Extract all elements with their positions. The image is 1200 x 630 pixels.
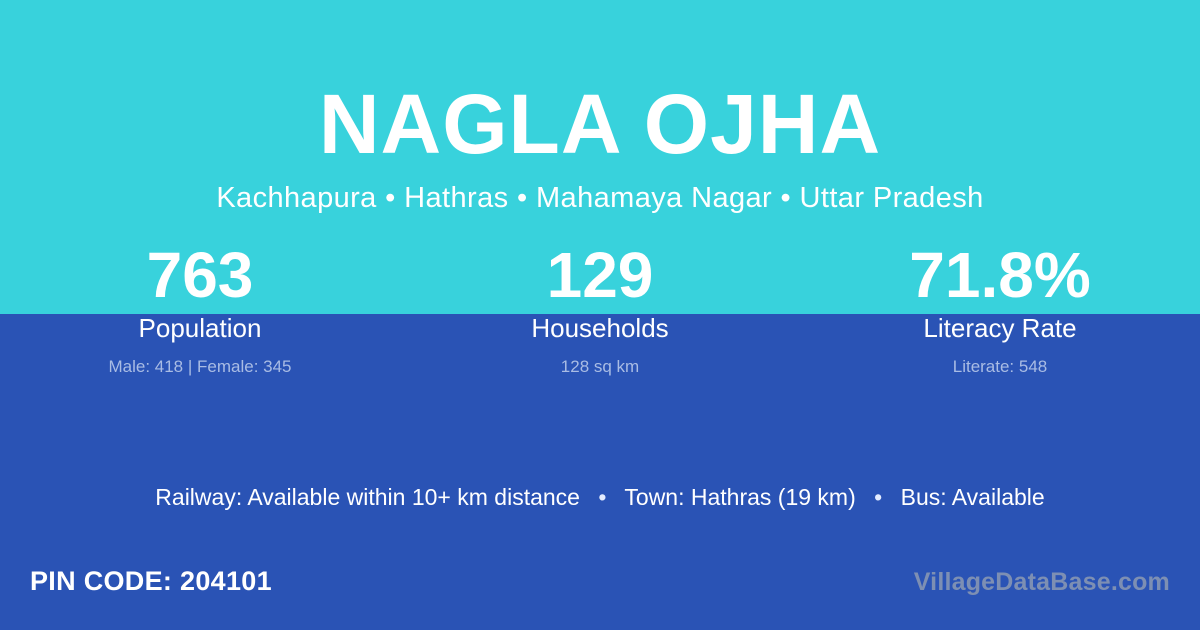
amenity-separator-icon: • xyxy=(862,484,894,510)
stat-population-value: 763 xyxy=(0,243,400,309)
pin-code: PIN CODE: 204101 xyxy=(30,566,272,597)
stat-population-sub: Male: 418 | Female: 345 xyxy=(0,356,400,378)
stat-literacy-sub: Literate: 548 xyxy=(800,356,1200,378)
stat-population: 763 Population Male: 418 | Female: 345 xyxy=(0,243,400,379)
stat-literacy: 71.8% Literacy Rate Literate: 548 xyxy=(800,243,1200,379)
amenity-bus: Bus: Available xyxy=(901,484,1045,510)
amenities-row: Railway: Available within 10+ km distanc… xyxy=(0,483,1200,513)
page-title: NAGLA OJHA xyxy=(0,82,1200,166)
stat-population-label: Population xyxy=(0,312,400,345)
stat-literacy-label: Literacy Rate xyxy=(800,312,1200,345)
stat-households-value: 129 xyxy=(400,243,800,309)
amenity-town: Town: Hathras (19 km) xyxy=(624,484,855,510)
amenity-railway: Railway: Available within 10+ km distanc… xyxy=(155,484,580,510)
breadcrumb: Kachhapura • Hathras • Mahamaya Nagar • … xyxy=(0,181,1200,216)
village-info-card: NAGLA OJHA Kachhapura • Hathras • Mahama… xyxy=(0,0,1200,630)
amenity-separator-icon: • xyxy=(586,484,618,510)
stat-households-label: Households xyxy=(400,312,800,345)
footer: PIN CODE: 204101 VillageDataBase.com xyxy=(0,552,1200,630)
stat-households-sub: 128 sq km xyxy=(400,356,800,378)
brand-watermark: VillageDataBase.com xyxy=(914,568,1170,597)
stat-literacy-value: 71.8% xyxy=(800,243,1200,309)
stat-households: 129 Households 128 sq km xyxy=(400,243,800,379)
stats-row: 763 Population Male: 418 | Female: 345 1… xyxy=(0,243,1200,379)
